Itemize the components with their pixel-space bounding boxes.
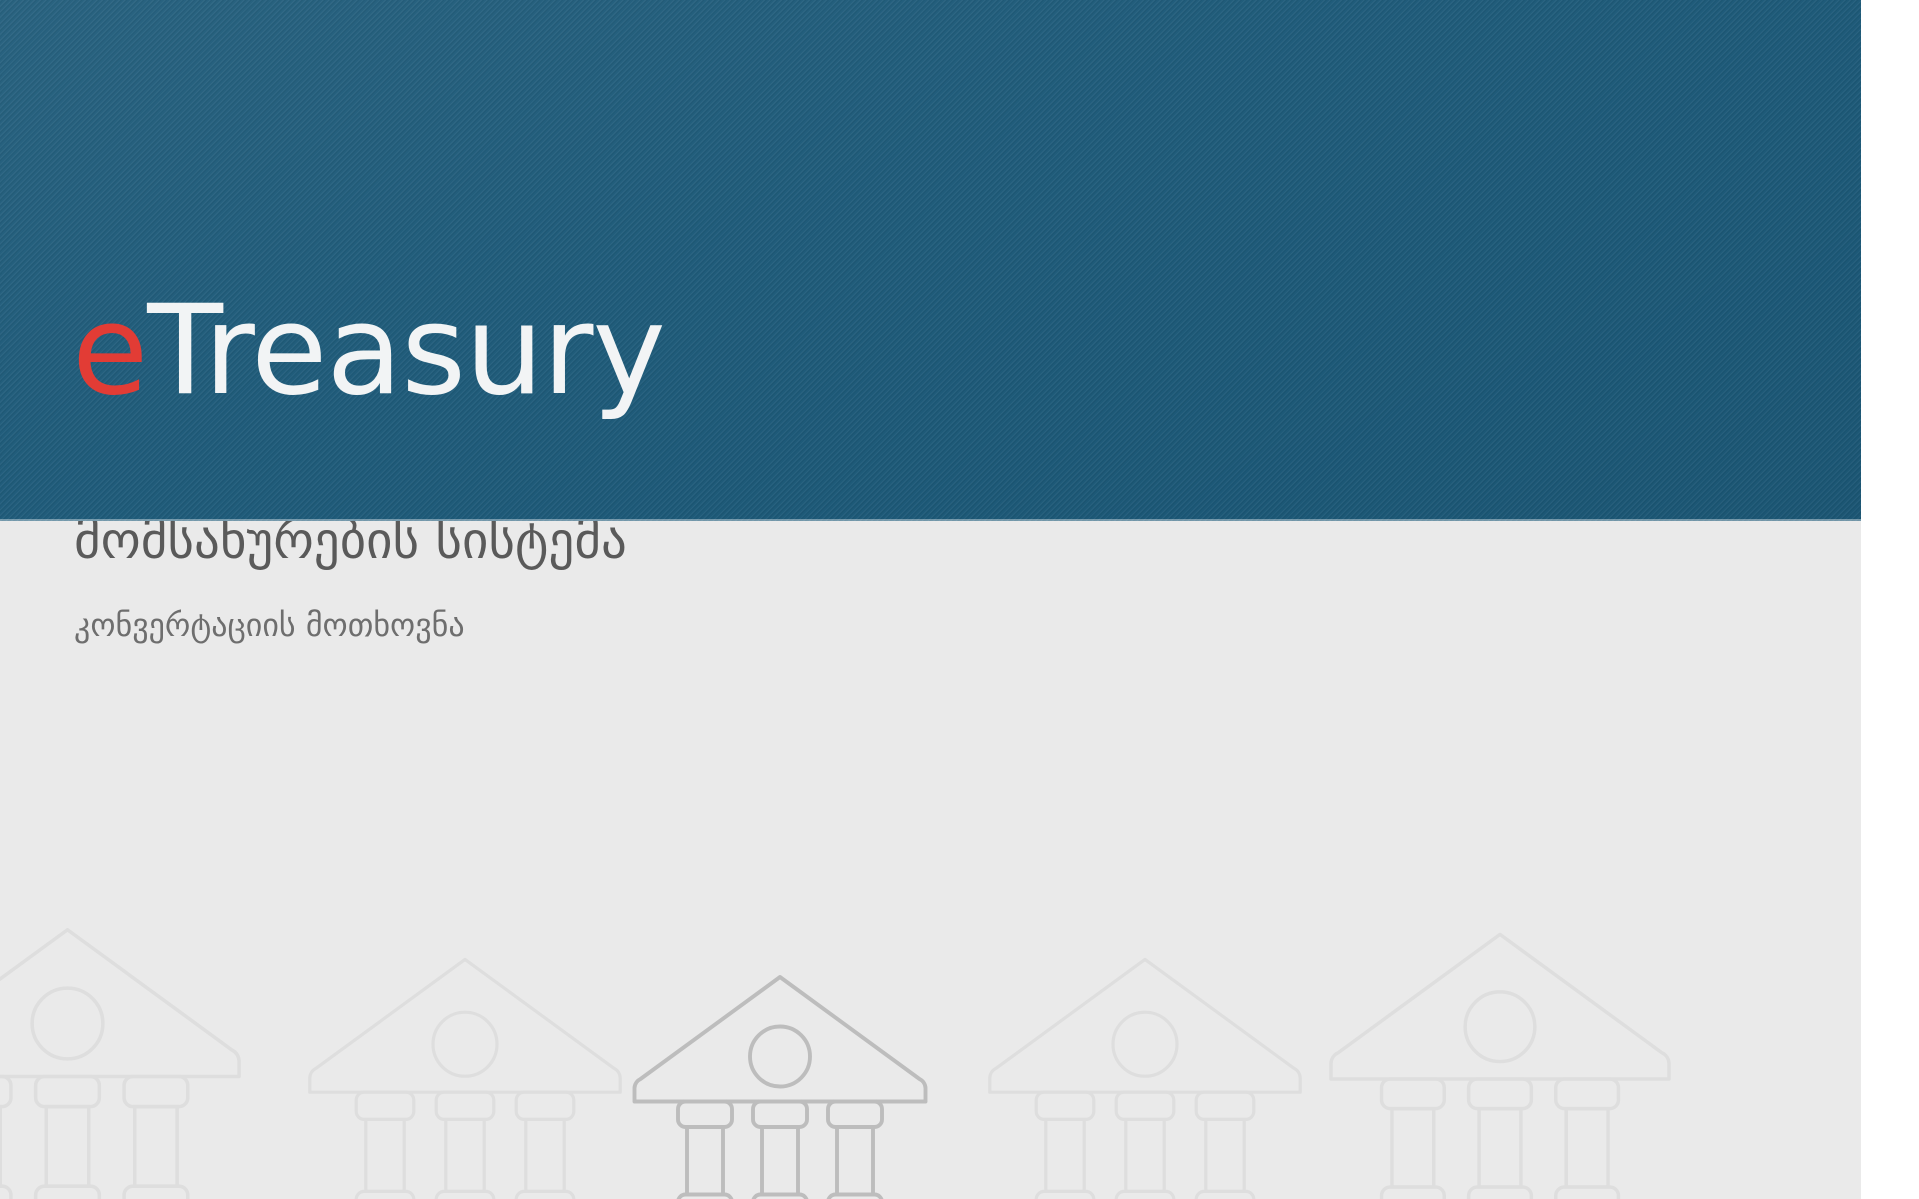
header-bottom-edge	[0, 519, 1861, 521]
right-white-gutter	[1861, 0, 1919, 1199]
etreasury-logo[interactable]: eTreasury	[72, 289, 665, 413]
bank-building-icon	[625, 956, 935, 1199]
bank-building-icon	[300, 937, 630, 1199]
page-title-line-2: მომსახურების სისტემა	[74, 512, 1274, 572]
page-subtitle: კონვერტაციის მოთხოვნა	[74, 605, 465, 645]
login-splash-page: eTreasury სახელმწიფო ხაზინის ელექტრონული…	[0, 0, 1919, 1199]
bank-building-icon	[1320, 910, 1680, 1199]
page-header-banner	[0, 0, 1861, 521]
logo-word: Treasury	[147, 279, 665, 423]
bank-building-icon	[0, 905, 250, 1199]
bank-building-icon	[980, 937, 1310, 1199]
bank-building-decoration-strip	[0, 899, 1919, 1199]
header-gradient-sheen	[0, 0, 1861, 521]
logo-prefix-letter: e	[72, 279, 147, 423]
